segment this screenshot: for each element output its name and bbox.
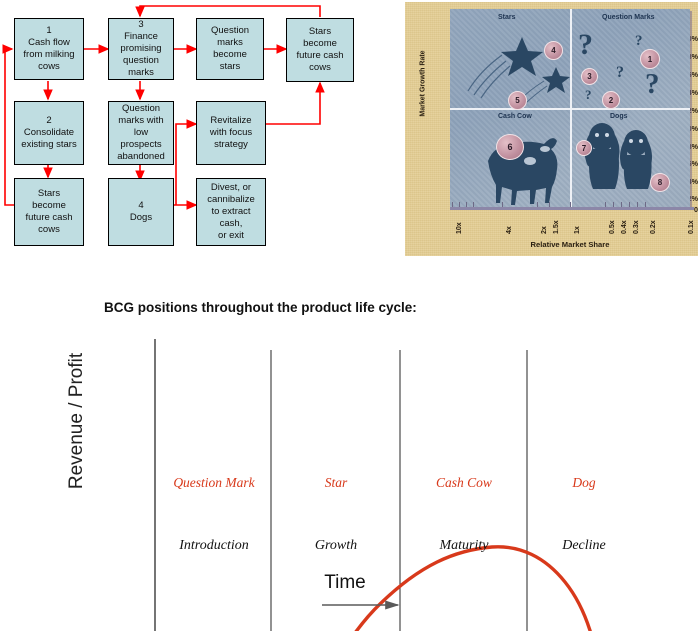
flow-box-line: question (120, 55, 161, 67)
matrix-bubble-2[interactable]: 2 (602, 91, 620, 109)
matrix-x-tick: 0.2x (650, 220, 657, 234)
flow-box-line: become (26, 200, 73, 212)
matrix-bubble-7[interactable]: 7 (576, 140, 592, 156)
lifecycle-x-axis-label: Time (300, 572, 390, 594)
matrix-bubble-4[interactable]: 4 (544, 41, 563, 60)
lifecycle-stage-decline: Decline (528, 538, 640, 554)
flow-box-line: or exit (207, 230, 255, 242)
matrix-x-axis-title: Relative Market Share (450, 240, 690, 249)
matrix-x-tickmark (549, 202, 550, 207)
matrix-bubble-1[interactable]: 1 (640, 49, 660, 69)
page-root: 1 Cash flow from milking cows 3 Finance … (0, 0, 700, 631)
bcg-stage-dog: Dog (528, 475, 640, 491)
flow-box-line: Finance (120, 31, 161, 43)
bcg-stage-star: Star (272, 475, 400, 491)
flow-box-line: marks (211, 37, 249, 49)
svg-text:?: ? (616, 64, 624, 81)
matrix-bubble-8[interactable]: 8 (650, 173, 670, 192)
matrix-x-tickmark (537, 202, 538, 207)
flow-box-line: marks with (117, 115, 165, 127)
matrix-x-tickmark (637, 202, 638, 207)
matrix-x-tick: 0.4x (621, 220, 628, 234)
flow-box-line: strategy (210, 139, 252, 151)
matrix-x-tick: 0.1x (688, 220, 695, 234)
matrix-x-tickmark (502, 202, 503, 207)
bubble-label: 7 (582, 144, 586, 153)
flow-box-line: Divest, or (207, 182, 255, 194)
flow-box-line: 4 (130, 200, 152, 212)
matrix-x-axis-line (450, 207, 694, 210)
flow-box-line: Consolidate (21, 127, 76, 139)
flow-box-line: with focus (210, 127, 252, 139)
flow-box-stars-future-cash-cows-top[interactable]: Stars become future cash cows (286, 18, 354, 82)
lifecycle-stage-maturity: Maturity (401, 538, 527, 554)
flow-box-stars-future-cash-cows-bottom[interactable]: Stars become future cash cows (14, 178, 84, 246)
flow-box-line: cows (26, 224, 73, 236)
flow-box-cash-flow-milking-cows[interactable]: 1 Cash flow from milking cows (14, 18, 84, 80)
matrix-plot-area: Stars Question Marks Cash Cow Dogs (450, 9, 690, 207)
bubble-label: 3 (587, 72, 591, 81)
flow-box-line: 3 (120, 19, 161, 31)
flow-box-divest-cannibalize[interactable]: Divest, or cannibalize to extract cash, … (196, 178, 266, 246)
matrix-x-tickmark (570, 202, 571, 207)
flow-box-line: become (211, 49, 249, 61)
matrix-x-tick: 1x (574, 226, 581, 234)
flow-box-line: cash, (207, 218, 255, 230)
matrix-x-tickmark (466, 202, 467, 207)
flow-box-consolidate-existing-stars[interactable]: 2 Consolidate existing stars (14, 101, 84, 165)
flow-box-line: 2 (21, 115, 76, 127)
flow-box-line: stars (211, 61, 249, 73)
bcg-strategy-flowchart: 1 Cash flow from milking cows 3 Finance … (0, 0, 390, 258)
bubble-label: 5 (515, 96, 519, 105)
flow-box-line: Question (117, 103, 165, 115)
svg-text:?: ? (635, 33, 643, 49)
matrix-x-tick: 0.5x (609, 220, 616, 234)
bubble-label: 6 (507, 142, 512, 152)
flow-box-question-marks-become-stars[interactable]: Question marks become stars (196, 18, 264, 80)
bubble-label: 2 (609, 96, 613, 105)
flow-box-finance-question-marks[interactable]: 3 Finance promising question marks (108, 18, 174, 80)
flow-box-line: future cash (26, 212, 73, 224)
flow-box-question-marks-abandoned[interactable]: Question marks with low prospects abando… (108, 101, 174, 165)
flow-box-dogs[interactable]: 4 Dogs (108, 178, 174, 246)
flow-box-line: promising (120, 43, 161, 55)
matrix-bubble-6[interactable]: 6 (496, 134, 524, 160)
flow-box-line: Question (211, 25, 249, 37)
flow-box-line: future cash (297, 50, 344, 62)
flow-box-line: abandoned (117, 151, 165, 163)
bubble-label: 8 (658, 178, 662, 187)
svg-text:?: ? (578, 28, 593, 61)
matrix-bubble-3[interactable]: 3 (581, 68, 598, 85)
svg-text:?: ? (645, 68, 660, 100)
lifecycle-stage-growth: Growth (272, 538, 400, 554)
flow-box-line: Dogs (130, 212, 152, 224)
bubble-label: 4 (551, 46, 555, 55)
flow-box-line: cows (297, 62, 344, 74)
flow-box-line: Cash flow (23, 37, 74, 49)
lifecycle-stage-introduction: Introduction (155, 538, 273, 554)
matrix-x-tickmark (629, 202, 630, 207)
bcg-stage-cash-cow: Cash Cow (401, 475, 527, 491)
flow-box-line: marks (120, 67, 161, 79)
flow-box-line: from milking (23, 49, 74, 61)
flow-box-line: Stars (297, 26, 344, 38)
flow-box-line: existing stars (21, 139, 76, 151)
matrix-x-tick: 2x (541, 226, 548, 234)
flow-box-revitalize-focus-strategy[interactable]: Revitalize with focus strategy (196, 101, 266, 165)
matrix-x-tick: 0.3x (633, 220, 640, 234)
flow-box-line: cows (23, 61, 74, 73)
bcg-growth-share-matrix: 20% 18% 16% 14% 12% 10% 8% 6% 4% 2% 0 Ma… (405, 2, 698, 256)
flow-box-line: low (117, 127, 165, 139)
product-life-cycle-chart: BCG positions throughout the product lif… (0, 282, 700, 631)
matrix-bubble-5[interactable]: 5 (508, 91, 527, 110)
matrix-x-tickmark (613, 202, 614, 207)
flow-box-line: cannibalize (207, 194, 255, 206)
flow-box-line: to extract (207, 206, 255, 218)
matrix-x-tickmark (605, 202, 606, 207)
matrix-x-tick: 10x (456, 222, 463, 234)
flow-box-line: Revitalize (210, 115, 252, 127)
bcg-stage-question-mark: Question Mark (158, 475, 270, 491)
matrix-x-tickmark (645, 202, 646, 207)
matrix-x-tickmark (452, 202, 453, 207)
flow-box-line: 1 (23, 25, 74, 37)
flow-box-line: become (297, 38, 344, 50)
svg-text:?: ? (585, 87, 592, 102)
matrix-x-tickmark (473, 202, 474, 207)
matrix-x-tickmark (621, 202, 622, 207)
matrix-x-tick: 4x (506, 226, 513, 234)
flow-box-line: Stars (26, 188, 73, 200)
flow-box-line: prospects (117, 139, 165, 151)
matrix-x-tick: 1.5x (553, 220, 560, 234)
matrix-x-tickmark (459, 202, 460, 207)
bubble-label: 1 (648, 55, 652, 64)
matrix-y-axis-title: Market Growth Rate (420, 49, 427, 119)
